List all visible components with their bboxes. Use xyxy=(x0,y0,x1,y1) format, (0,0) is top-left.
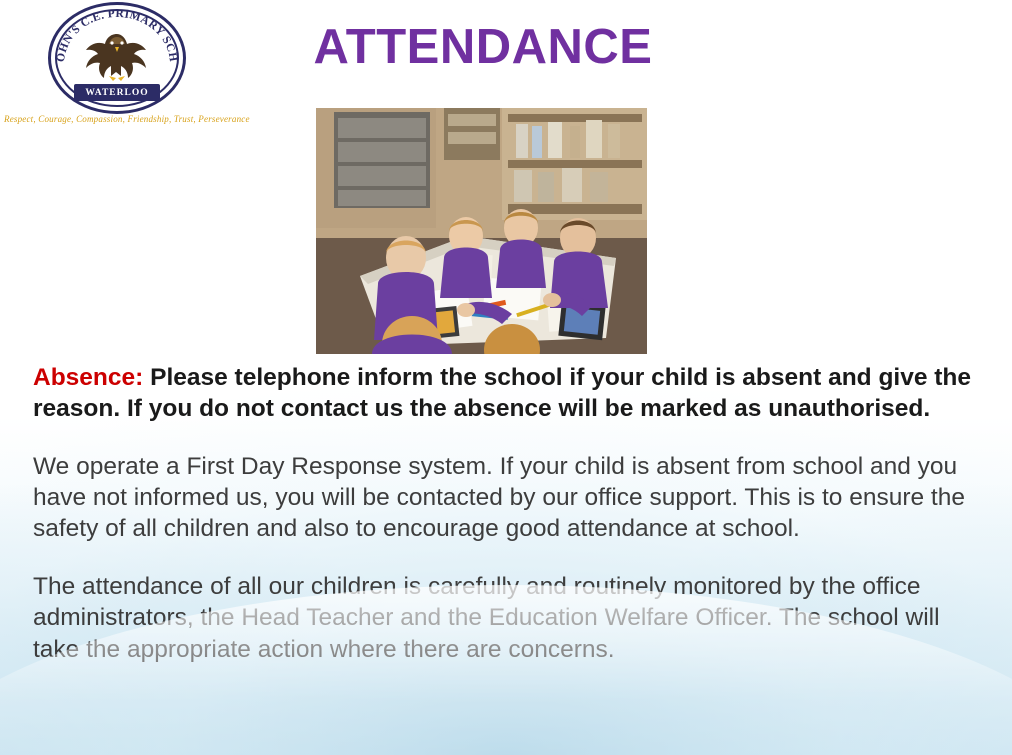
page-title: ATTENDANCE xyxy=(248,22,718,73)
paragraph-first-day-response: We operate a First Day Response system. … xyxy=(33,451,985,545)
body-text: Absence: Please telephone inform the sch… xyxy=(33,362,985,665)
absence-body: Please telephone inform the school if yo… xyxy=(33,364,971,422)
paragraph-monitoring: The attendance of all our children is ca… xyxy=(33,571,985,665)
crest-banner-label: WATERLOO xyxy=(74,84,160,101)
absence-paragraph: Absence: Please telephone inform the sch… xyxy=(33,362,985,425)
slide-canvas: ST. JOHN'S C.E. PRIMARY SCHOOL WATERLOO … xyxy=(0,0,1012,755)
school-motto: Respect, Courage, Compassion, Friendship… xyxy=(4,114,232,124)
classroom-photo xyxy=(316,108,647,354)
absence-label: Absence: xyxy=(33,364,143,391)
school-logo: ST. JOHN'S C.E. PRIMARY SCHOOL WATERLOO … xyxy=(0,0,232,132)
eagle-icon xyxy=(82,28,152,84)
school-crest: ST. JOHN'S C.E. PRIMARY SCHOOL WATERLOO xyxy=(48,2,186,114)
